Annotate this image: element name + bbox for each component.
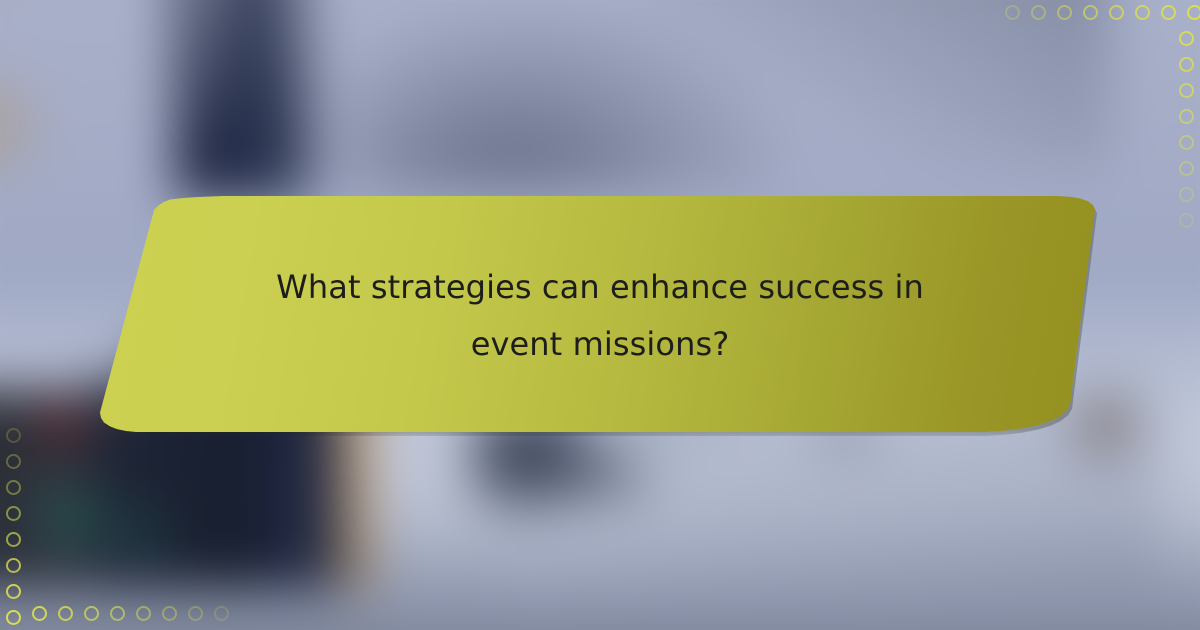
decorative-ring bbox=[1179, 213, 1194, 228]
decorative-ring bbox=[1109, 5, 1124, 20]
green-light-accent bbox=[36, 488, 106, 548]
decorative-ring bbox=[6, 558, 21, 573]
decorative-ring bbox=[1179, 57, 1194, 72]
tower-highlight-left bbox=[190, 0, 232, 150]
decorative-ring bbox=[1161, 5, 1176, 20]
decorative-ring bbox=[1187, 5, 1200, 20]
decorative-ring bbox=[6, 584, 21, 599]
foreground-shadow bbox=[538, 448, 658, 504]
decorative-ring bbox=[1179, 161, 1194, 176]
amber-glow-left bbox=[0, 70, 50, 180]
tower-highlight-right bbox=[262, 0, 312, 130]
decorative-ring bbox=[58, 606, 73, 621]
decorative-ring bbox=[162, 606, 177, 621]
decorative-ring bbox=[6, 506, 21, 521]
decorative-ring bbox=[1179, 187, 1194, 202]
decorative-ring bbox=[6, 610, 21, 625]
decorative-ring bbox=[136, 606, 151, 621]
teal-light-accent bbox=[110, 510, 170, 560]
decorative-ring bbox=[84, 606, 99, 621]
decorative-ring bbox=[1031, 5, 1046, 20]
decorative-ring bbox=[1005, 5, 1020, 20]
mountain-ridge-right bbox=[640, 0, 1110, 170]
decorative-ring bbox=[110, 606, 125, 621]
screenshot-canvas: What strategies can enhance success in e… bbox=[0, 0, 1200, 630]
decorative-ring bbox=[6, 454, 21, 469]
decorative-ring bbox=[1179, 83, 1194, 98]
decorative-ring bbox=[214, 606, 229, 621]
decorative-ring bbox=[1179, 135, 1194, 150]
decorative-ring bbox=[1083, 5, 1098, 20]
decorative-ring bbox=[6, 480, 21, 495]
decorative-ring bbox=[6, 532, 21, 547]
question-card: What strategies can enhance success in e… bbox=[100, 196, 1100, 432]
haze-top-left bbox=[0, 0, 40, 50]
decorative-ring bbox=[1179, 109, 1194, 124]
decorative-ring bbox=[1179, 31, 1194, 46]
decorative-ring bbox=[188, 606, 203, 621]
decorative-ring bbox=[6, 428, 21, 443]
red-light-accent bbox=[38, 402, 90, 446]
question-text: What strategies can enhance success in e… bbox=[230, 196, 970, 432]
mountain-ridge-center bbox=[370, 60, 670, 190]
decorative-ring bbox=[32, 606, 47, 621]
decorative-ring bbox=[1135, 5, 1150, 20]
decorative-ring bbox=[1057, 5, 1072, 20]
